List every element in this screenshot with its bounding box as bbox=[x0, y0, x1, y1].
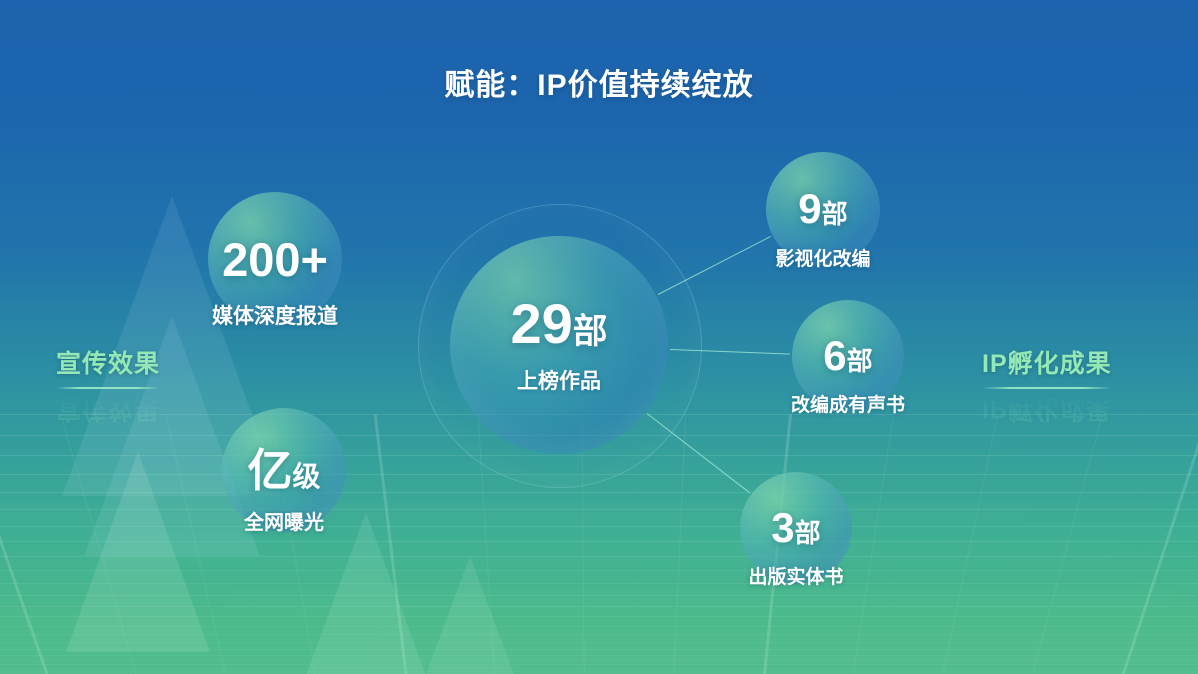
metric-caption: 出版实体书 bbox=[748, 562, 843, 589]
metric-bubble-exposure[interactable]: 亿级 全网曝光 bbox=[222, 408, 346, 532]
metric-value: 6部 bbox=[823, 335, 872, 377]
section-label-underline bbox=[982, 387, 1112, 389]
metric-caption: 改编成有声书 bbox=[791, 390, 905, 417]
section-label-left-reflection: 宣传效果 bbox=[56, 393, 160, 429]
metric-caption: 媒体深度报道 bbox=[212, 300, 338, 330]
slide-canvas: 赋能：IP价值持续绽放 宣传效果 宣传效果 IP孵化成果 IP孵化成果 29部 … bbox=[0, 0, 1198, 674]
metric-bubble-film-adaptation[interactable]: 9部 影视化改编 bbox=[766, 152, 880, 266]
chevron-shape-icon bbox=[418, 556, 522, 674]
section-label-right-text: IP孵化成果 bbox=[982, 350, 1112, 378]
metric-value: 9部 bbox=[798, 188, 847, 230]
metric-value: 29部 bbox=[510, 296, 607, 352]
slide-title: 赋能：IP价值持续绽放 bbox=[0, 60, 1198, 104]
metric-bubble-media-coverage[interactable]: 200+ 媒体深度报道 bbox=[208, 192, 342, 326]
metric-value: 亿级 bbox=[248, 448, 321, 493]
section-label-underline bbox=[56, 387, 160, 389]
metric-bubble-center[interactable]: 29部 上榜作品 bbox=[450, 236, 668, 454]
chevron-shape-icon bbox=[66, 452, 210, 652]
metric-value: 3部 bbox=[771, 507, 820, 549]
metric-bubble-audiobook[interactable]: 6部 改编成有声书 bbox=[792, 300, 904, 412]
metric-caption: 影视化改编 bbox=[775, 244, 870, 271]
section-label-right: IP孵化成果 IP孵化成果 bbox=[982, 344, 1112, 429]
section-label-left: 宣传效果 宣传效果 bbox=[56, 344, 160, 429]
metric-bubble-print-book[interactable]: 3部 出版实体书 bbox=[740, 472, 852, 584]
metric-caption: 全网曝光 bbox=[244, 506, 324, 535]
chevron-shape-icon bbox=[300, 512, 432, 674]
metric-caption: 上榜作品 bbox=[517, 365, 601, 395]
metric-value: 200+ bbox=[222, 236, 328, 283]
section-label-left-text: 宣传效果 bbox=[56, 350, 160, 378]
section-label-right-reflection: IP孵化成果 bbox=[982, 393, 1112, 429]
